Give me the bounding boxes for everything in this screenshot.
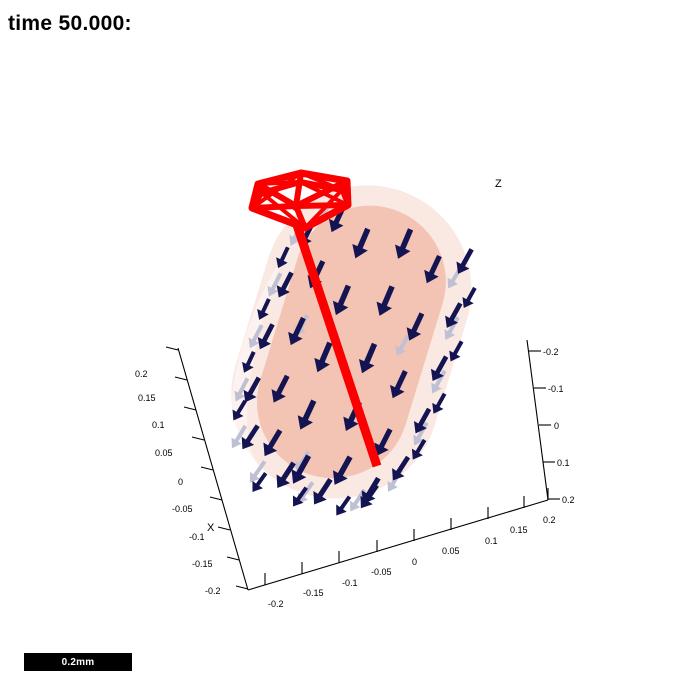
axis-x: 0.2 0.15 0.1 0.05 0 -0.05 -0.1 -0.15 -0.… [135, 347, 248, 596]
svg-text:-0.2: -0.2 [205, 586, 221, 596]
svg-text:-0.15: -0.15 [303, 588, 324, 598]
visualization-canvas: time 50.000: 0.2 0.15 0.1 0.05 0 [0, 0, 695, 680]
svg-text:0.2: 0.2 [562, 495, 575, 505]
svg-text:0.15: 0.15 [510, 525, 528, 535]
svg-text:0.2: 0.2 [543, 515, 556, 525]
svg-text:-0.05: -0.05 [172, 504, 193, 514]
svg-text:0: 0 [554, 421, 559, 431]
axis-y-tick-labels: -0.2 -0.15 -0.1 -0.05 0 0.05 0.1 0.15 0.… [268, 515, 556, 609]
svg-text:-0.2: -0.2 [543, 347, 559, 357]
svg-text:0.1: 0.1 [152, 420, 165, 430]
svg-text:-0.1: -0.1 [189, 532, 205, 542]
svg-text:-0.2: -0.2 [268, 599, 284, 609]
svg-text:0.1: 0.1 [485, 536, 498, 546]
svg-text:0.15: 0.15 [138, 393, 156, 403]
axis-x-label: X [207, 522, 215, 534]
svg-text:0.05: 0.05 [155, 448, 173, 458]
svg-text:0: 0 [412, 557, 417, 567]
svg-text:0.1: 0.1 [557, 458, 570, 468]
axis-y-ticks [265, 488, 548, 585]
frame-hub [292, 203, 300, 211]
svg-text:0.05: 0.05 [442, 546, 460, 556]
3d-plot: 0.2 0.15 0.1 0.05 0 -0.05 -0.1 -0.15 -0.… [0, 0, 695, 680]
svg-text:-0.1: -0.1 [548, 384, 564, 394]
axis-z-label: Z [495, 178, 502, 190]
svg-text:0.2: 0.2 [135, 369, 148, 379]
svg-text:-0.05: -0.05 [371, 567, 392, 577]
svg-text:-0.15: -0.15 [192, 559, 213, 569]
scale-bar-label: 0.2mm [62, 657, 95, 668]
scale-bar: 0.2mm [24, 653, 132, 671]
svg-text:-0.1: -0.1 [342, 578, 358, 588]
axis-z-tick-labels: -0.2 -0.1 0 0.1 0.2 [543, 347, 575, 505]
axis-x-tick-labels: 0.2 0.15 0.1 0.05 0 -0.05 -0.1 -0.15 -0.… [135, 369, 221, 596]
axis-z: -0.2 -0.1 0 0.1 0.2 Z [495, 178, 575, 505]
svg-text:0: 0 [178, 477, 183, 487]
